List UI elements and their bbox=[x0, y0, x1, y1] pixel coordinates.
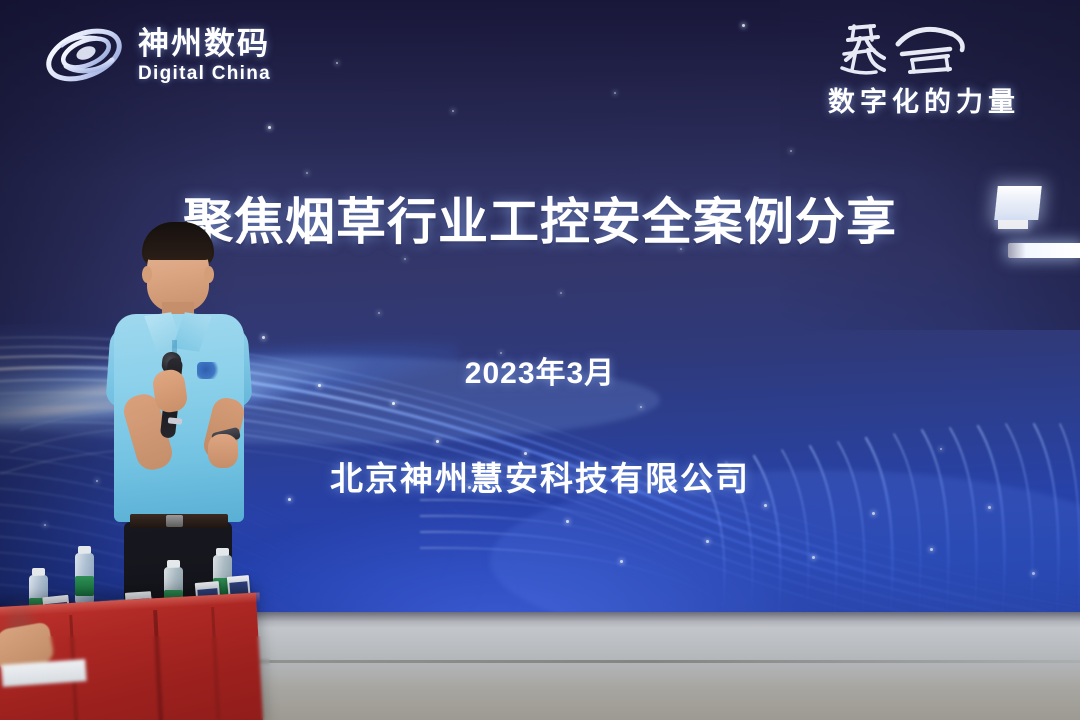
speaker-belt-buckle bbox=[166, 515, 183, 527]
water-bottle bbox=[74, 546, 96, 606]
speaker-hand-right bbox=[208, 434, 238, 468]
digital-china-wordmark: 神州数码 Digital China bbox=[138, 28, 271, 83]
bottle-label bbox=[75, 576, 94, 596]
digital-china-chinese-name: 神州数码 bbox=[138, 28, 271, 59]
digital-china-english-name: Digital China bbox=[138, 64, 271, 83]
conference-photo: 神州数码 Digital China bbox=[0, 0, 1080, 720]
digital-china-logo: 神州数码 Digital China bbox=[42, 22, 271, 88]
speaker-ear-left bbox=[142, 266, 152, 283]
speaker-hair-front bbox=[144, 228, 212, 260]
speaker-ear-right bbox=[204, 266, 214, 283]
event-logo: 数字化的力量 bbox=[808, 18, 1058, 114]
digital-china-swirl-icon bbox=[42, 22, 126, 88]
event-tagline: 数字化的力量 bbox=[828, 80, 1020, 119]
speaker-chest-logo-icon bbox=[197, 362, 219, 379]
juhe-calligraphy-icon bbox=[840, 20, 970, 82]
